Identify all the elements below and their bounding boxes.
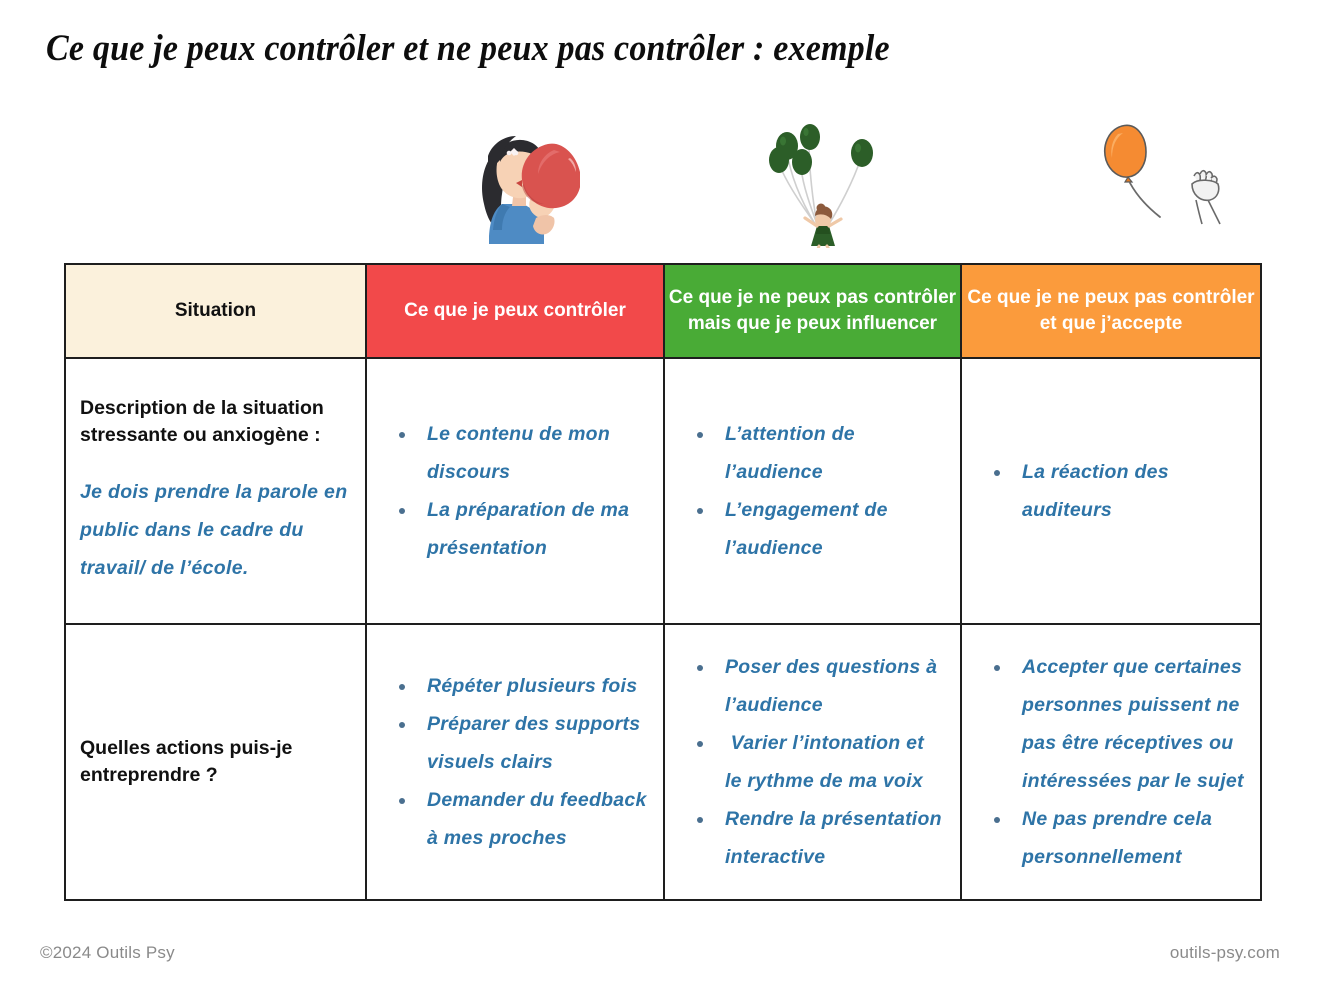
bullet-list-accept-row2: Accepter que certaines personnes puissen… <box>966 648 1256 876</box>
cell-accept-row2: Accepter que certaines personnes puissen… <box>961 624 1261 900</box>
page-title: Ce que je peux contrôler et ne peux pas … <box>46 26 890 72</box>
orange-balloon-flying-away-icon <box>1090 114 1250 229</box>
list-item: La préparation de ma présentation <box>389 491 649 567</box>
girl-holding-green-balloons-icon <box>765 120 885 248</box>
situation-heading: Description de la situation stressante o… <box>80 395 349 449</box>
cell-accept-row1: La réaction des auditeurs <box>961 358 1261 624</box>
column-header-accept: Ce que je ne peux pas contrôler et que j… <box>961 264 1261 358</box>
list-item: La réaction des auditeurs <box>984 453 1246 529</box>
situation-body-text: Je dois prendre la parole en public dans… <box>80 473 349 587</box>
bullet-list-influence-row2: Poser des questions à l’audience Varier … <box>669 648 956 876</box>
footer-copyright: ©2024 Outils Psy <box>40 943 175 963</box>
bullet-list-control-row1: Le contenu de mon discours La préparatio… <box>371 415 659 567</box>
list-item: Le contenu de mon discours <box>389 415 649 491</box>
cell-influence-row2: Poser des questions à l’audience Varier … <box>664 624 961 900</box>
actions-heading: Quelles actions puis-je entreprendre ? <box>80 735 349 789</box>
cell-influence-row1: L’attention de l’audience L’engagement d… <box>664 358 961 624</box>
list-item: Poser des questions à l’audience <box>687 648 946 724</box>
list-item: Préparer des supports visuels clairs <box>389 705 649 781</box>
control-influence-accept-table: Situation Ce que je peux contrôler Ce qu… <box>64 263 1262 901</box>
cell-situation-description: Description de la situation stressante o… <box>65 358 366 624</box>
list-item: Répéter plusieurs fois <box>389 667 649 705</box>
table-row: Quelles actions puis-je entreprendre ? R… <box>65 624 1261 900</box>
table-header-row: Situation Ce que je peux contrôler Ce qu… <box>65 264 1261 358</box>
girl-blowing-red-balloon-icon <box>452 122 580 244</box>
cell-situation-actions: Quelles actions puis-je entreprendre ? <box>65 624 366 900</box>
footer-website: outils-psy.com <box>1170 943 1280 963</box>
column-header-situation: Situation <box>65 264 366 358</box>
illustration-band <box>0 108 1320 248</box>
column-header-influence: Ce que je ne peux pas contrôler mais que… <box>664 264 961 358</box>
list-item: L’attention de l’audience <box>687 415 946 491</box>
bullet-list-influence-row1: L’attention de l’audience L’engagement d… <box>669 415 956 567</box>
list-item: Rendre la présentation interactive <box>687 800 946 876</box>
bullet-list-control-row2: Répéter plusieurs fois Préparer des supp… <box>371 667 659 857</box>
column-header-control: Ce que je peux contrôler <box>366 264 664 358</box>
cell-control-row1: Le contenu de mon discours La préparatio… <box>366 358 664 624</box>
list-item: Accepter que certaines personnes puissen… <box>984 648 1246 800</box>
list-item: Demander du feedback à mes proches <box>389 781 649 857</box>
bullet-list-accept-row1: La réaction des auditeurs <box>966 453 1256 529</box>
list-item: Ne pas prendre cela personnellement <box>984 800 1246 876</box>
cell-control-row2: Répéter plusieurs fois Préparer des supp… <box>366 624 664 900</box>
list-item: L’engagement de l’audience <box>687 491 946 567</box>
table-row: Description de la situation stressante o… <box>65 358 1261 624</box>
list-item: Varier l’intonation et le rythme de ma v… <box>687 724 946 800</box>
